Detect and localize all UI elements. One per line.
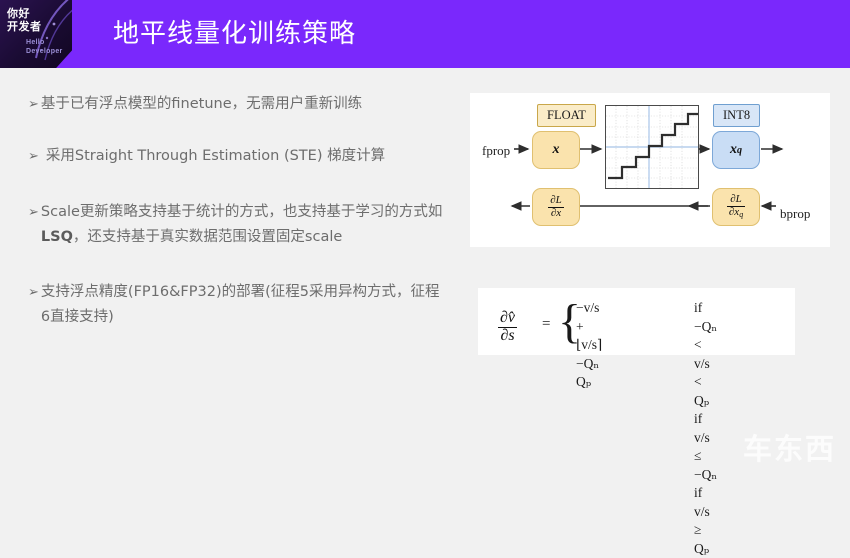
- formula-value-row: −v/s + ⌊v/s⌉: [576, 299, 602, 355]
- formula-equals: =: [542, 316, 550, 333]
- logo-en-line1: Hello: [26, 38, 63, 47]
- logo-chinese-text: 你好 开发者: [7, 8, 42, 33]
- bullet-marker-icon: ➢: [28, 200, 39, 225]
- logo-cn-line1: 你好: [7, 8, 42, 21]
- lhs-denominator: ∂s: [498, 327, 517, 345]
- watermark-logo: 车东西: [743, 426, 836, 468]
- formula-conditions: if −Qₙ < v/s < Qₚ if v/s ≤ −Qₙ if v/s ≥ …: [694, 299, 717, 558]
- formula-condition-row: if −Qₙ < v/s < Qₚ: [694, 299, 717, 410]
- lhs-numerator: ∂v̂: [498, 310, 517, 327]
- bullet-text-emphasis: LSQ: [41, 229, 73, 245]
- bullet-marker-icon: ➢: [28, 144, 39, 169]
- formula-lhs: ∂v̂ ∂s: [498, 310, 517, 345]
- formula-values: −v/s + ⌊v/s⌉ −Qₙ Qₚ: [576, 299, 602, 392]
- formula-condition-row: if v/s ≤ −Qₙ: [694, 410, 717, 484]
- bullet-marker-icon: ➢: [28, 280, 39, 305]
- bullet-text: 支持浮点精度(FP16&FP32)的部署(征程5采用异构方式，征程6直接支持): [41, 280, 448, 330]
- bullet-text: Scale更新策略支持基于统计的方式，也支持基于学习的方式如LSQ，还支持基于真…: [41, 200, 448, 250]
- logo-cn-line2: 开发者: [7, 21, 42, 34]
- bullet-text: 基于已有浮点模型的finetune，无需用户重新训练: [41, 92, 448, 117]
- list-item: ➢ 基于已有浮点模型的finetune，无需用户重新训练: [28, 92, 448, 117]
- list-item: ➢ Scale更新策略支持基于统计的方式，也支持基于学习的方式如LSQ，还支持基…: [28, 200, 448, 250]
- logo-en-line2: Developer: [26, 47, 63, 56]
- lhs-fraction: ∂v̂ ∂s: [498, 310, 517, 345]
- bullet-marker-icon: ➢: [28, 92, 39, 117]
- brand-logo: 你好 开发者 Hello Developer: [0, 0, 72, 68]
- list-item: ➢ 采用Straight Through Estimation (STE) 梯度…: [28, 144, 448, 169]
- gradient-formula-panel: ∂v̂ ∂s = { −v/s + ⌊v/s⌉ −Qₙ Qₚ if −Qₙ < …: [478, 288, 795, 355]
- logo-english-text: Hello Developer: [26, 38, 63, 56]
- quantization-diagram: fprop bprop FLOAT INT8 x xq ∂L ∂x ∂L ∂xq: [470, 93, 830, 247]
- formula-value-row: Qₚ: [576, 373, 602, 392]
- formula-condition-row: if v/s ≥ Qₚ: [694, 484, 717, 558]
- page-title: 地平线量化训练策略: [113, 14, 356, 54]
- diagram-arrows: [470, 93, 830, 247]
- formula-value-row: −Qₙ: [576, 355, 602, 374]
- bullet-list: ➢ 基于已有浮点模型的finetune，无需用户重新训练 ➢ 采用Straigh…: [28, 92, 448, 357]
- bullet-text: 采用Straight Through Estimation (STE) 梯度计算: [46, 144, 448, 169]
- list-item: ➢ 支持浮点精度(FP16&FP32)的部署(征程5采用异构方式，征程6直接支持…: [28, 280, 448, 330]
- slide-header: 你好 开发者 Hello Developer 地平线量化训练策略: [0, 0, 850, 68]
